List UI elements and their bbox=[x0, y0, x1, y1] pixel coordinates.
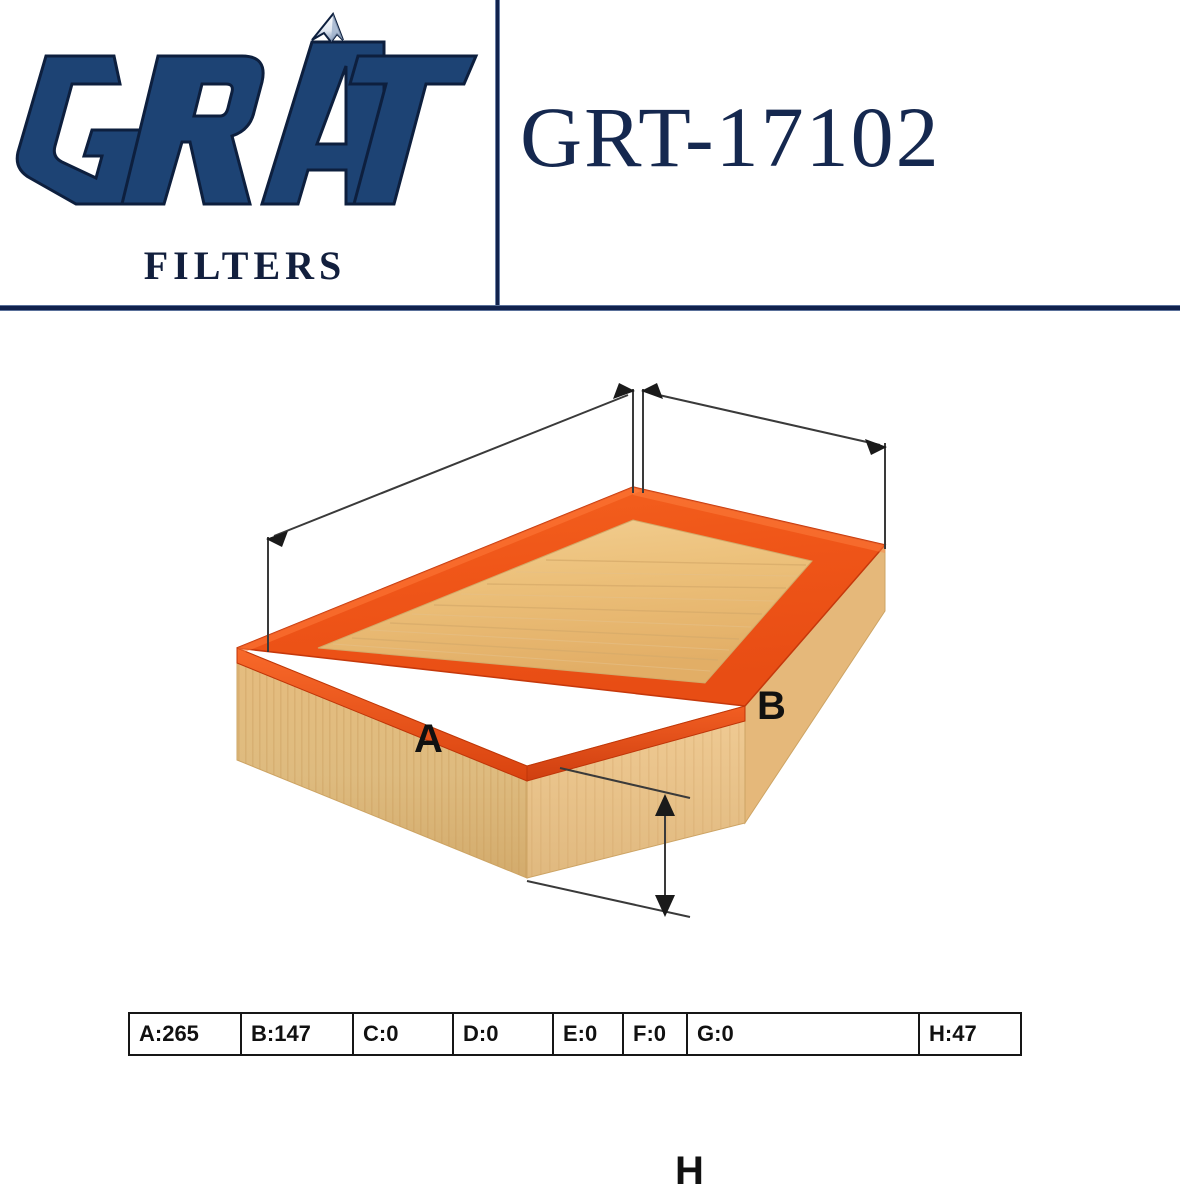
spec-cell-c: C:0 bbox=[354, 1014, 454, 1054]
dimension-label-a: A bbox=[414, 719, 443, 759]
product-drawing: A B H bbox=[0, 311, 1180, 1001]
product-datasheet-page: FILTERS GRT-17102 bbox=[0, 0, 1180, 1080]
spec-cell-g: G:0 bbox=[688, 1014, 920, 1054]
dimension-label-h: H bbox=[675, 1151, 704, 1191]
spec-cell-a: A:265 bbox=[130, 1014, 242, 1054]
spec-cell-b: B:147 bbox=[242, 1014, 354, 1054]
brand-tagline: FILTERS bbox=[0, 246, 490, 286]
header: FILTERS GRT-17102 bbox=[0, 0, 1180, 311]
spec-cell-f: F:0 bbox=[624, 1014, 688, 1054]
spec-cell-h: H:47 bbox=[920, 1014, 1020, 1054]
spec-cell-e: E:0 bbox=[554, 1014, 624, 1054]
header-vertical-divider bbox=[495, 0, 500, 307]
dimension-label-b: B bbox=[757, 686, 786, 726]
part-number: GRT-17102 bbox=[520, 92, 1160, 182]
brand-wordmark-grat bbox=[6, 12, 484, 242]
brand-logo: FILTERS bbox=[0, 8, 490, 303]
dimension-spec-table: A:265 B:147 C:0 D:0 E:0 F:0 G:0 H:47 bbox=[128, 1012, 1022, 1056]
spec-cell-d: D:0 bbox=[454, 1014, 554, 1054]
dim-b-line bbox=[650, 393, 880, 445]
air-filter-illustration bbox=[0, 311, 1180, 1001]
